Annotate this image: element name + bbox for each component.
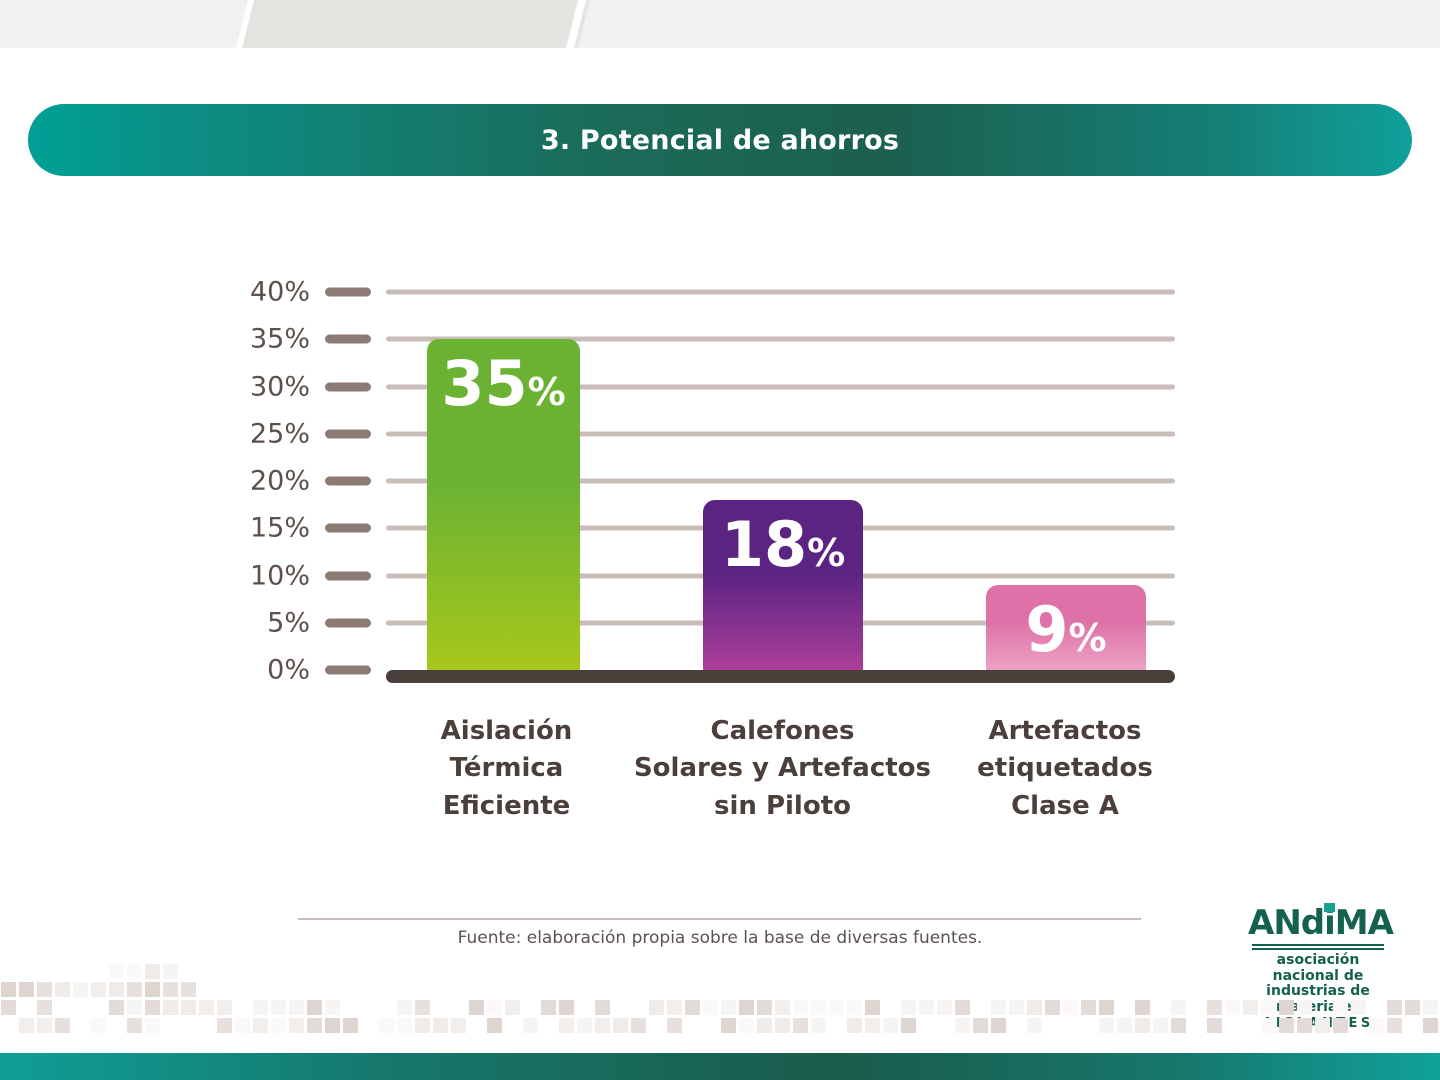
- mosaic-square: [1099, 1018, 1114, 1033]
- mosaic-square: [145, 982, 160, 997]
- bar-value-unit: %: [1069, 616, 1107, 660]
- mosaic-square: [181, 982, 196, 997]
- category-label-line: Solares y Artefactos: [590, 750, 975, 787]
- category-label-line: Eficiente: [400, 788, 613, 825]
- mosaic-square: [865, 1018, 880, 1033]
- mosaic-square: [1333, 1000, 1348, 1015]
- category-label-line: Térmica: [400, 750, 613, 787]
- bar-value-unit: %: [807, 531, 845, 575]
- mosaic-square: [901, 1018, 916, 1033]
- y-axis-tick-label: 35%: [150, 326, 310, 353]
- mosaic-square: [757, 1000, 772, 1015]
- mosaic-square: [829, 1000, 844, 1015]
- logo-accent-square-icon: [1324, 903, 1335, 912]
- mosaic-square: [1423, 1000, 1438, 1015]
- bar-value-label: 9%: [1025, 599, 1106, 661]
- mosaic-square: [469, 1000, 484, 1015]
- mosaic-square: [55, 1018, 70, 1033]
- mosaic-square: [937, 1000, 952, 1015]
- mosaic-square: [847, 1018, 862, 1033]
- mosaic-square: [1117, 1018, 1132, 1033]
- mosaic-square: [1171, 1000, 1186, 1015]
- mosaic-square: [1027, 1018, 1042, 1033]
- mosaic-square: [19, 1018, 34, 1033]
- y-axis-tick-mark: [325, 666, 371, 675]
- bar-chart: 40%35%30%25%20%15%10%5%0% 35%18%9% Aisla…: [0, 255, 1440, 705]
- mosaic-square: [91, 982, 106, 997]
- category-label-line: Aislación: [400, 713, 613, 750]
- mosaic-square: [811, 1018, 826, 1033]
- mosaic-square: [19, 982, 34, 997]
- mosaic-square: [955, 1000, 970, 1015]
- mosaic-square: [1261, 1018, 1276, 1033]
- logo-rule-top: [1252, 944, 1384, 946]
- mosaic-square: [1279, 1018, 1294, 1033]
- mosaic-square: [343, 1018, 358, 1033]
- mosaic-square: [217, 1000, 232, 1015]
- mosaic-square: [55, 982, 70, 997]
- mosaic-square: [1027, 1000, 1042, 1015]
- category-label-3: ArtefactosetiquetadosClase A: [930, 713, 1200, 825]
- y-axis-tick-label: 25%: [150, 420, 310, 447]
- mosaic-square: [613, 1018, 628, 1033]
- y-axis-tick-label: 15%: [150, 515, 310, 542]
- mosaic-square: [289, 1000, 304, 1015]
- mosaic-square: [109, 964, 124, 979]
- mosaic-square: [1387, 1000, 1402, 1015]
- mosaic-square: [1405, 1000, 1420, 1015]
- mosaic-square: [991, 1018, 1006, 1033]
- bottom-teal-bar: [0, 1053, 1440, 1080]
- mosaic-square: [667, 1000, 682, 1015]
- mosaic-square: [973, 1018, 988, 1033]
- page-title: 3. Potencial de ahorros: [541, 125, 899, 156]
- gridline: [386, 290, 1175, 295]
- mosaic-square: [757, 1018, 772, 1033]
- top-band-baseline: [0, 48, 1440, 52]
- mosaic-square: [1207, 1000, 1222, 1015]
- mosaic-square: [235, 1018, 250, 1033]
- mosaic-square: [73, 982, 88, 997]
- y-axis-tick-label: 0%: [150, 657, 310, 684]
- y-axis-tick-mark: [325, 618, 371, 627]
- slide-title-bar: 3. Potencial de ahorros: [28, 104, 1412, 176]
- y-axis-tick-label: 40%: [150, 279, 310, 306]
- category-label-line: Clase A: [930, 788, 1200, 825]
- mosaic-square: [127, 964, 142, 979]
- bar-2: 18%: [703, 500, 863, 676]
- logo-rule-bottom: [1252, 948, 1384, 950]
- logo-wordmark-text: ANdiMA: [1248, 903, 1393, 943]
- category-label-line: sin Piloto: [590, 788, 975, 825]
- mosaic-square: [307, 1018, 322, 1033]
- mosaic-square: [1315, 1018, 1330, 1033]
- mosaic-square: [721, 1000, 736, 1015]
- mosaic-square: [1243, 1000, 1258, 1015]
- mosaic-square: [451, 1018, 466, 1033]
- category-label-line: Artefactos: [930, 713, 1200, 750]
- mosaic-square: [541, 1000, 556, 1015]
- mosaic-square: [397, 1000, 412, 1015]
- mosaic-square: [127, 1018, 142, 1033]
- mosaic-square: [919, 1000, 934, 1015]
- y-axis-tick-label: 5%: [150, 609, 310, 636]
- mosaic-square: [397, 1018, 412, 1033]
- mosaic-square: [559, 1018, 574, 1033]
- mosaic-square: [1135, 1000, 1150, 1015]
- mosaic-square: [523, 1018, 538, 1033]
- bar-value-label: 35%: [441, 353, 565, 415]
- mosaic-square: [487, 1018, 502, 1033]
- chart-baseline: [386, 670, 1175, 683]
- y-axis-tick-mark: [325, 335, 371, 344]
- mosaic-square: [1333, 1018, 1348, 1033]
- mosaic-square: [721, 1018, 736, 1033]
- bar-value-number: 35: [441, 347, 527, 420]
- mosaic-square: [1, 1000, 16, 1015]
- mosaic-square: [667, 1018, 682, 1033]
- mosaic-square: [1279, 1000, 1294, 1015]
- mosaic-square: [163, 982, 178, 997]
- mosaic-square: [685, 1000, 700, 1015]
- mosaic-square: [253, 1000, 268, 1015]
- source-note: Fuente: elaboración propia sobre la base…: [0, 928, 1440, 948]
- mosaic-square: [37, 982, 52, 997]
- y-axis-tick-label: 30%: [150, 373, 310, 400]
- bar-value-number: 18: [721, 508, 807, 581]
- mosaic-square: [1207, 1018, 1222, 1033]
- mosaic-square: [271, 1018, 286, 1033]
- y-axis-tick-label: 10%: [150, 562, 310, 589]
- mosaic-square: [1081, 1000, 1096, 1015]
- mosaic-square: [559, 1000, 574, 1015]
- mosaic-square: [181, 1000, 196, 1015]
- mosaic-square: [703, 1000, 718, 1015]
- mosaic-square: [109, 1000, 124, 1015]
- mosaic-square: [1351, 1000, 1366, 1015]
- mosaic-square: [325, 1000, 340, 1015]
- mosaic-square: [1135, 1018, 1150, 1033]
- mosaic-square: [1261, 1000, 1276, 1015]
- mosaic-square: [595, 1018, 610, 1033]
- mosaic-square: [145, 1018, 160, 1033]
- mosaic-square: [433, 1018, 448, 1033]
- category-label-line: Calefones: [590, 713, 975, 750]
- mosaic-square: [1423, 1018, 1438, 1033]
- mosaic-square: [1297, 1000, 1312, 1015]
- y-axis-tick-mark: [325, 524, 371, 533]
- y-axis-tick-mark: [325, 571, 371, 580]
- mosaic-square: [127, 982, 142, 997]
- mosaic-square: [415, 1018, 430, 1033]
- mosaic-square: [1, 982, 16, 997]
- mosaic-square: [307, 1000, 322, 1015]
- mosaic-square: [793, 1000, 808, 1015]
- mosaic-square: [289, 1018, 304, 1033]
- y-axis-tick-mark: [325, 477, 371, 486]
- y-axis-tick-mark: [325, 288, 371, 297]
- mosaic-square: [325, 1018, 340, 1033]
- mosaic-square: [595, 1000, 610, 1015]
- y-axis-tick-mark: [325, 429, 371, 438]
- category-label-2: CalefonesSolares y Artefactossin Piloto: [590, 713, 975, 825]
- mosaic-square: [739, 1000, 754, 1015]
- mosaic-square: [163, 1000, 178, 1015]
- bar-3: 9%: [986, 585, 1146, 676]
- mosaic-square: [577, 1018, 592, 1033]
- category-label-line: etiquetados: [930, 750, 1200, 787]
- mosaic-square: [109, 982, 124, 997]
- mosaic-square: [901, 1000, 916, 1015]
- mosaic-square: [1369, 1018, 1384, 1033]
- mosaic-square: [505, 1000, 520, 1015]
- mosaic-square: [865, 1000, 880, 1015]
- mosaic-square: [199, 1000, 214, 1015]
- mosaic-square: [271, 1000, 286, 1015]
- mosaic-square: [811, 1000, 826, 1015]
- mosaic-square: [1009, 1000, 1024, 1015]
- mosaic-square: [415, 1000, 430, 1015]
- mosaic-square: [955, 1018, 970, 1033]
- bar-value-label: 18%: [721, 514, 845, 576]
- mosaic-square: [1387, 1018, 1402, 1033]
- mosaic-square: [631, 1018, 646, 1033]
- mosaic-square: [883, 1018, 898, 1033]
- mosaic-square: [775, 1000, 790, 1015]
- mosaic-square: [1171, 1018, 1186, 1033]
- mosaic-square: [1297, 1018, 1312, 1033]
- category-label-1: AislaciónTérmicaEficiente: [400, 713, 613, 825]
- source-divider: [298, 918, 1141, 920]
- bar-value-number: 9: [1025, 593, 1068, 666]
- bottom-mosaic-pattern: [0, 962, 1440, 1030]
- mosaic-square: [1063, 1000, 1078, 1015]
- mosaic-square: [37, 1018, 52, 1033]
- mosaic-square: [1225, 1000, 1240, 1015]
- mosaic-square: [37, 1000, 52, 1015]
- y-axis-labels: 40%35%30%25%20%15%10%5%0%: [150, 255, 310, 685]
- bar-1: 35%: [427, 339, 580, 676]
- mosaic-square: [1153, 1018, 1168, 1033]
- mosaic-square: [739, 1018, 754, 1033]
- mosaic-square: [217, 1018, 232, 1033]
- mosaic-square: [145, 1000, 160, 1015]
- mosaic-square: [91, 1018, 106, 1033]
- mosaic-square: [127, 1000, 142, 1015]
- bar-value-unit: %: [528, 370, 566, 414]
- mosaic-square: [163, 964, 178, 979]
- mosaic-square: [991, 1000, 1006, 1015]
- y-axis-tick-label: 20%: [150, 468, 310, 495]
- logo-wordmark: ANdiMA: [1248, 906, 1388, 940]
- y-axis-tick-mark: [325, 382, 371, 391]
- mosaic-square: [1045, 1000, 1060, 1015]
- top-band-slant-shape: [237, 0, 590, 52]
- top-decorative-band: [0, 0, 1440, 52]
- mosaic-square: [1099, 1000, 1114, 1015]
- mosaic-square: [487, 1000, 502, 1015]
- mosaic-square: [253, 1018, 268, 1033]
- mosaic-square: [379, 1018, 394, 1033]
- mosaic-square: [793, 1018, 808, 1033]
- mosaic-square: [775, 1018, 790, 1033]
- mosaic-square: [145, 964, 160, 979]
- mosaic-square: [649, 1000, 664, 1015]
- mosaic-square: [847, 1000, 862, 1015]
